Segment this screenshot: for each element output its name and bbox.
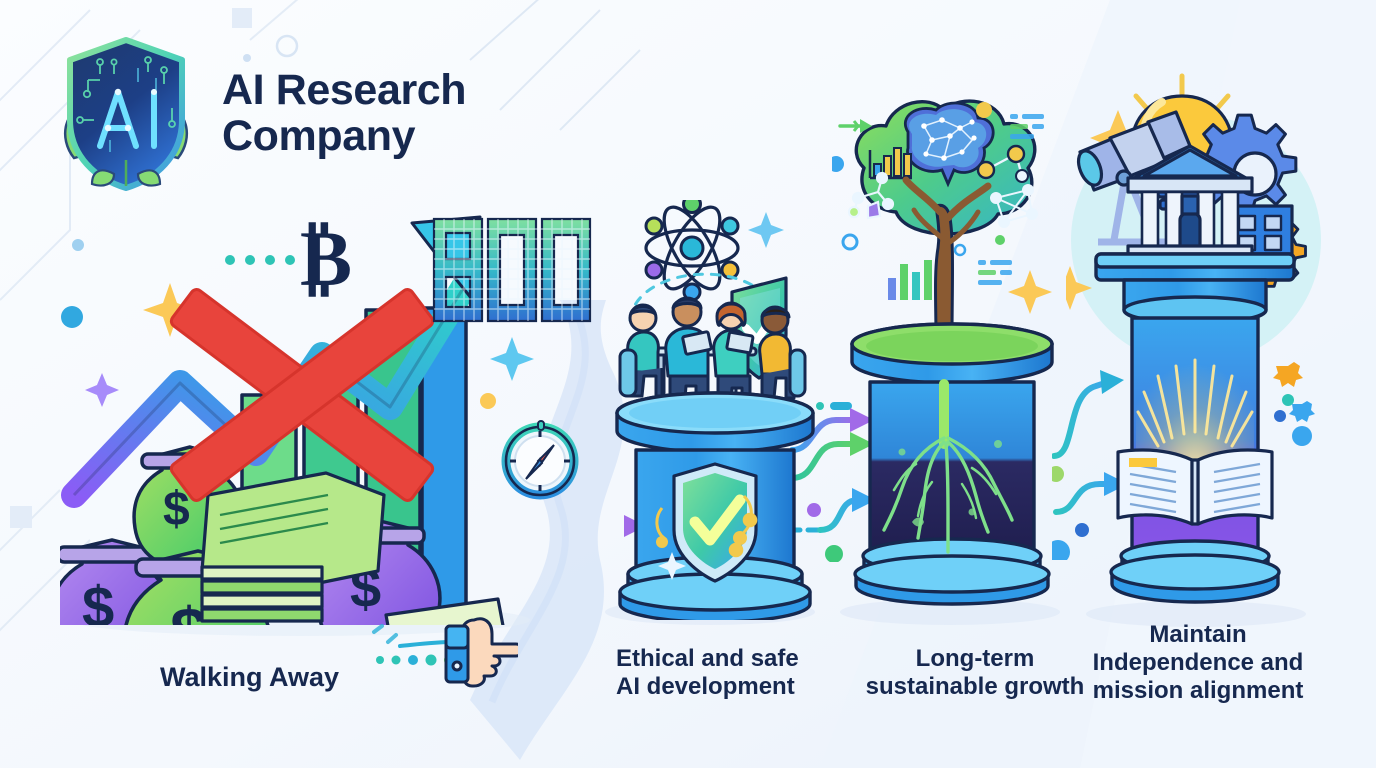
- ethical-safe-ai-pillar: [600, 200, 830, 620]
- caption-independence-mission: Maintain Independence and mission alignm…: [1038, 621, 1358, 705]
- open-book-icon: [1118, 450, 1272, 524]
- caption-ethical-safe-ai: Ethical and safe AI development: [616, 645, 816, 701]
- page-title: AI Research Company: [222, 68, 466, 159]
- sparkle-icon: [748, 212, 784, 248]
- atom-icon: [646, 200, 738, 300]
- caption-walking-away: Walking Away: [160, 662, 339, 694]
- bar-chart-icon: [888, 260, 932, 300]
- independence-mission-pillar: [1066, 60, 1328, 620]
- svg-text:$: $: [82, 575, 114, 625]
- dot: [72, 239, 84, 251]
- long-term-growth-pillar: [832, 92, 1072, 620]
- ai-shield-leaf-logo: [52, 34, 200, 194]
- header: AI Research Company: [52, 34, 466, 194]
- compass-icon: [506, 421, 574, 495]
- infographic-canvas: AI Research Company ₿ 8: [0, 0, 1376, 768]
- pointer-hand-icon: [368, 614, 518, 694]
- dotted-line: [225, 255, 295, 265]
- pixel-number-800: [428, 215, 596, 325]
- bitcoin-icon: ₿: [300, 215, 352, 302]
- pedestal-icon: [852, 324, 1052, 604]
